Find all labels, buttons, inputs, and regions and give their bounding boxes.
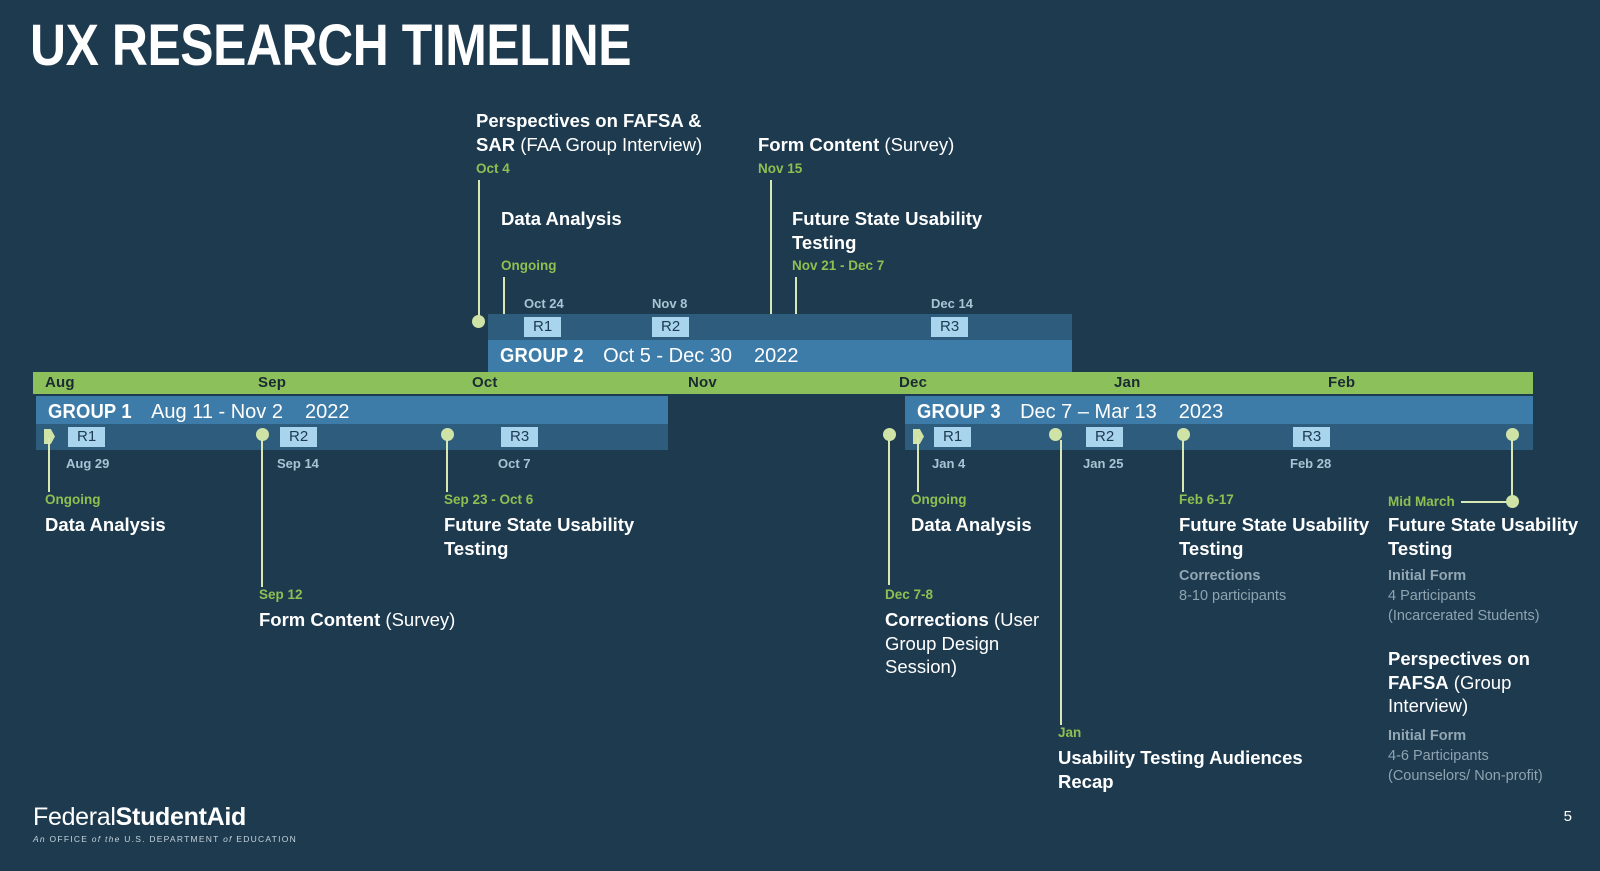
annotation-g3-perspectives-march-title: Perspectives on FAFSA (Group Interview) [1388,647,1588,718]
annotation-g3-future-state-march-title: Future State Usability Testing [1388,513,1598,560]
month-label-dec: Dec [899,374,927,391]
group-2-round-2-date: Nov 8 [652,296,687,311]
group-2-range: Oct 5 - Dec 30 [603,345,732,368]
group-2-round-3-date: Dec 14 [931,296,973,311]
connector-dot [1506,495,1519,508]
group-3-round-1-date: Jan 4 [932,456,965,471]
group-2-marker-bar [488,314,1072,340]
annotation-title-bold: Form Content [758,134,879,155]
group-2-round-2-box[interactable]: R2 [652,317,689,337]
logo-tagline-part-4: the [105,834,121,844]
month-label-aug: Aug [45,374,75,391]
connector-line [478,180,480,322]
month-label-sep: Sep [258,374,286,391]
detail-line3: (Counselors/ Non-profit) [1388,768,1543,784]
annotation-title-bold: Form Content [259,609,380,630]
group-3-round-1-box[interactable]: R1 [934,427,971,447]
annotation-g1-future-state-title: Future State Usability Testing [444,513,654,560]
detail-line2: 4-6 Participants [1388,748,1489,764]
annotation-g3-future-state-march-detail: Initial Form 4 Participants (Incarcerate… [1388,566,1600,626]
annotation-g3-usability-recap-date: Jan [1058,725,1081,741]
group-2-name: GROUP 2 [500,345,584,368]
group-1-round-1-box[interactable]: R1 [68,427,105,447]
month-label-nov: Nov [688,374,717,391]
annotation-g3-corrections-title: Corrections (User Group Design Session) [885,608,1060,679]
group-1-round-3-box[interactable]: R3 [501,427,538,447]
month-label-jan: Jan [1114,374,1140,391]
group-1-range: Aug 11 - Nov 2 [151,401,283,424]
annotation-g2-perspectives-title: Perspectives on FAFSA & SAR (FAA Group I… [476,109,726,156]
logo-tagline-part-3: of [88,834,105,844]
month-label-feb: Feb [1328,374,1355,391]
annotation-g3-usability-recap-title: Usability Testing Audiences Recap [1058,746,1308,793]
connector-line [261,440,263,587]
month-label-oct: Oct [472,374,498,391]
connector-line [1511,440,1513,502]
group-2-round-1-date: Oct 24 [524,296,564,311]
group-1-marker-bar [36,424,668,450]
logo-text-studentaid: StudentAid [116,803,246,831]
annotation-g1-data-analysis-date: Ongoing [45,492,100,508]
logo-wordmark: FederalStudentAid [33,803,297,832]
connector-line [770,180,772,322]
slide-canvas: UX RESEARCH TIMELINE Perspectives on FAF… [0,0,1600,871]
federal-student-aid-logo: FederalStudentAid An OFFICE of the U.S. … [33,803,297,844]
annotation-g1-data-analysis-title: Data Analysis [45,513,175,537]
detail-bold: Initial Form [1388,568,1466,584]
page-title: UX RESEARCH TIMELINE [30,12,631,79]
connector-line [888,440,890,585]
annotation-title-regular: (FAA Group Interview) [515,134,702,155]
detail-bold: Corrections [1179,568,1260,584]
group-2-year: 2022 [754,345,799,368]
annotation-g3-future-state-feb-detail: Corrections 8-10 participants [1179,566,1379,606]
connector-dot [472,315,485,328]
page-number: 5 [1564,808,1572,825]
group-3-year: 2023 [1179,401,1224,424]
logo-text-federal: Federal [33,803,116,831]
detail-line3: (Incarcerated Students) [1388,608,1540,624]
group-1-year: 2022 [305,401,350,424]
group-3-marker-bar [905,424,1533,450]
group-3-round-2-date: Jan 25 [1083,456,1123,471]
logo-tagline-part-6: of [223,834,233,844]
connector-line [1060,440,1062,725]
annotation-g2-future-state-title: Future State Usability Testing [792,207,992,254]
connector-line [1182,440,1184,492]
annotation-g1-form-content-date: Sep 12 [259,587,303,603]
annotation-g1-future-state-date: Sep 23 - Oct 6 [444,492,533,508]
detail-regular: 8-10 participants [1179,588,1286,604]
group-2-bar[interactable]: GROUP 2 Oct 5 - Dec 30 2022 [488,340,1072,372]
connector-line [917,438,919,492]
annotation-g2-perspectives-date: Oct 4 [476,161,510,177]
annotation-g3-future-state-feb-title: Future State Usability Testing [1179,513,1379,560]
group-3-round-3-box[interactable]: R3 [1293,427,1330,447]
connector-line [446,440,448,492]
logo-tagline: An OFFICE of the U.S. DEPARTMENT of EDUC… [33,834,297,844]
logo-tagline-part-7: EDUCATION [233,834,297,844]
annotation-title-regular: (Survey) [879,134,954,155]
annotation-g3-future-state-feb-date: Feb 6-17 [1179,492,1234,508]
group-1-round-2-date: Sep 14 [277,456,319,471]
connector-line [503,277,505,317]
annotation-title-bold: Corrections [885,609,989,630]
logo-tagline-part-5: U.S. DEPARTMENT [121,834,224,844]
group-1-name: GROUP 1 [48,401,132,424]
annotation-g2-data-analysis-date: Ongoing [501,258,556,274]
connector-line [48,438,50,492]
group-3-name: GROUP 3 [917,401,1001,424]
group-2-round-3-box[interactable]: R3 [931,317,968,337]
annotation-g3-future-state-march-date: Mid March [1388,494,1455,510]
annotation-g3-perspectives-march-detail: Initial Form 4-6 Participants (Counselor… [1388,726,1600,786]
annotation-title-regular: (Survey) [380,609,455,630]
group-1-round-2-box[interactable]: R2 [280,427,317,447]
annotation-g2-form-content-title: Form Content (Survey) [758,133,998,157]
annotation-g1-form-content-title: Form Content (Survey) [259,608,579,632]
group-1-round-1-date: Aug 29 [66,456,109,471]
group-3-round-3-date: Feb 28 [1290,456,1331,471]
group-3-round-2-box[interactable]: R2 [1086,427,1123,447]
annotation-g3-corrections-date: Dec 7-8 [885,587,933,603]
detail-bold: Initial Form [1388,728,1466,744]
detail-line2: 4 Participants [1388,588,1476,604]
annotation-g2-future-state-date: Nov 21 - Dec 7 [792,258,884,274]
group-3-range: Dec 7 – Mar 13 [1020,401,1157,424]
logo-tagline-part-1: An [33,834,50,844]
group-1-round-3-date: Oct 7 [498,456,531,471]
logo-tagline-part-2: OFFICE [50,834,89,844]
annotation-g3-data-analysis-date: Ongoing [911,492,966,508]
annotation-g3-data-analysis-title: Data Analysis [911,513,1041,537]
month-axis: Aug Sep Oct Nov Dec Jan Feb [33,372,1533,394]
group-2-round-1-box[interactable]: R1 [524,317,561,337]
annotation-g2-form-content-date: Nov 15 [758,161,802,177]
annotation-g2-data-analysis-title: Data Analysis [501,207,631,231]
